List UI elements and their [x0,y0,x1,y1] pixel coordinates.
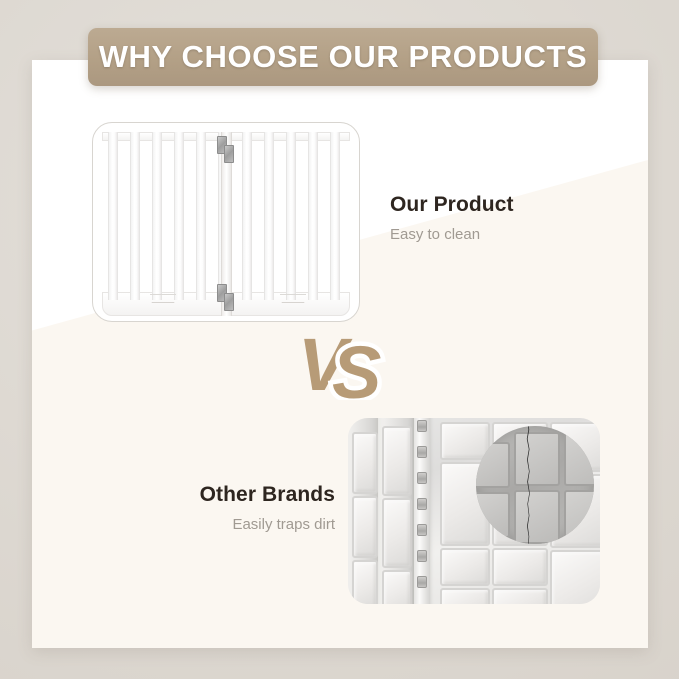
comparison-card: Our Product Easy to clean Other Brands E… [32,60,648,648]
plastic-cell [440,548,490,586]
gate-bar [152,132,162,300]
our-product-image [92,122,360,322]
gate-bar [308,132,318,300]
hinge-knuckle [417,524,427,536]
magnified-cell [564,432,594,486]
gate-bar [242,132,252,300]
hinge-knuckle [417,472,427,484]
hinge-knuckle [417,550,427,562]
magnified-cell [564,490,594,544]
plastic-hinge-strip [414,418,430,604]
gate-foot [150,294,176,303]
hinge-knuckle [417,446,427,458]
magnifier-inset [476,426,594,544]
hinge-knuckle [417,420,427,432]
our-product-title: Our Product [390,193,514,217]
magnified-cell [514,490,560,544]
magnified-cell [514,432,560,486]
gate-bar [174,132,184,300]
magnified-cell [476,442,510,488]
other-brands-title: Other Brands [140,483,335,507]
our-product-subtitle: Easy to clean [390,226,514,243]
gate-bar [330,132,340,300]
plastic-cell [382,498,412,568]
our-product-label-group: Our Product Easy to clean [390,193,514,243]
plastic-cell [550,550,600,604]
gate-hinge-bottom [216,284,236,314]
plastic-cell [352,560,378,604]
hinge-knuckle [417,576,427,588]
other-brands-image [348,418,600,604]
plastic-cell [352,432,378,494]
plastic-cell [492,548,548,586]
magnified-cell [476,492,510,538]
gate-bar [130,132,140,300]
gate-bar [108,132,118,300]
gate-bar [196,132,206,300]
headline-banner: WHY CHOOSE OUR PRODUCTS [88,28,598,86]
gate-hinge-top [216,136,236,166]
hinge-knuckle [417,498,427,510]
other-brands-subtitle: Easily traps dirt [140,516,335,533]
vs-letter-s: S [332,331,381,400]
plastic-cell [382,426,412,496]
gate-bar [264,132,274,300]
page-background: Our Product Easy to clean Other Brands E… [0,0,679,679]
headline-text: WHY CHOOSE OUR PRODUCTS [99,39,588,75]
plastic-cell [382,570,412,604]
plastic-cell [492,588,548,604]
other-brands-label-group: Other Brands Easily traps dirt [140,483,335,533]
plastic-cell [352,496,378,558]
plastic-cell [440,588,490,604]
gate-bar [286,132,296,300]
gate-foot [280,294,306,303]
vs-badge: V S S [300,328,395,400]
gate-bars-area [102,132,350,300]
hinge-plate [224,293,234,311]
hinge-plate [224,145,234,163]
